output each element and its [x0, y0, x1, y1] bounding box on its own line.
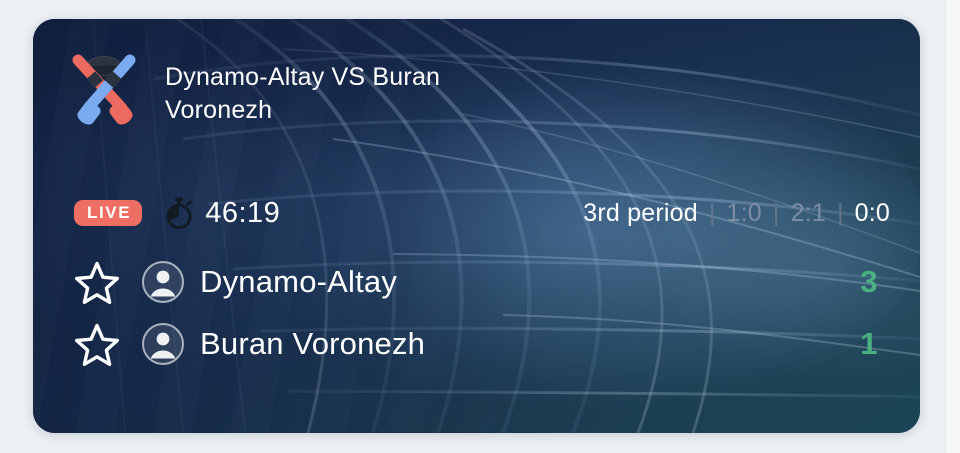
match-score-card[interactable]: Dynamo-Altay VS Buran Voronezh LIVE 46:1…	[33, 19, 920, 433]
period-separator-2: |	[773, 199, 780, 228]
user-avatar-icon	[141, 322, 185, 366]
timer-value: 46:19	[205, 197, 280, 230]
period-score-2: 2:1	[791, 199, 826, 228]
hockey-sticks-and-puck-icon	[63, 47, 145, 129]
match-title: Dynamo-Altay VS Buran Voronezh	[165, 47, 465, 128]
period-score-1: 1:0	[727, 199, 762, 228]
match-timer: 46:19	[164, 197, 280, 230]
team-score: 1	[860, 326, 890, 362]
live-status-badge: LIVE	[74, 200, 142, 226]
period-separator-3: |	[837, 199, 844, 228]
team-row[interactable]: Buran Voronezh 1	[74, 313, 890, 375]
period-score-3: 0:0	[855, 199, 890, 228]
star-outline-icon[interactable]	[74, 322, 120, 367]
team-name: Buran Voronezh	[200, 326, 425, 362]
team-row[interactable]: Dynamo-Altay 3	[74, 251, 890, 313]
team-list: Dynamo-Altay 3 Buran Voronezh 1	[74, 251, 890, 375]
team-name: Dynamo-Altay	[200, 264, 397, 300]
match-status-row: LIVE 46:19 3rd period | 1:0 | 2:1 | 0	[74, 192, 890, 234]
card-header: Dynamo-Altay VS Buran Voronezh	[63, 47, 465, 129]
period-separator-1: |	[709, 199, 716, 228]
current-period-label: 3rd period	[583, 199, 698, 228]
period-info: 3rd period | 1:0 | 2:1 | 0:0	[583, 199, 890, 228]
page-scrollbar[interactable]	[945, 0, 960, 453]
user-avatar-icon	[141, 260, 185, 304]
star-outline-icon[interactable]	[74, 260, 120, 305]
team-score: 3	[860, 264, 890, 300]
stopwatch-icon	[164, 197, 194, 229]
card-content: Dynamo-Altay VS Buran Voronezh LIVE 46:1…	[33, 19, 920, 433]
